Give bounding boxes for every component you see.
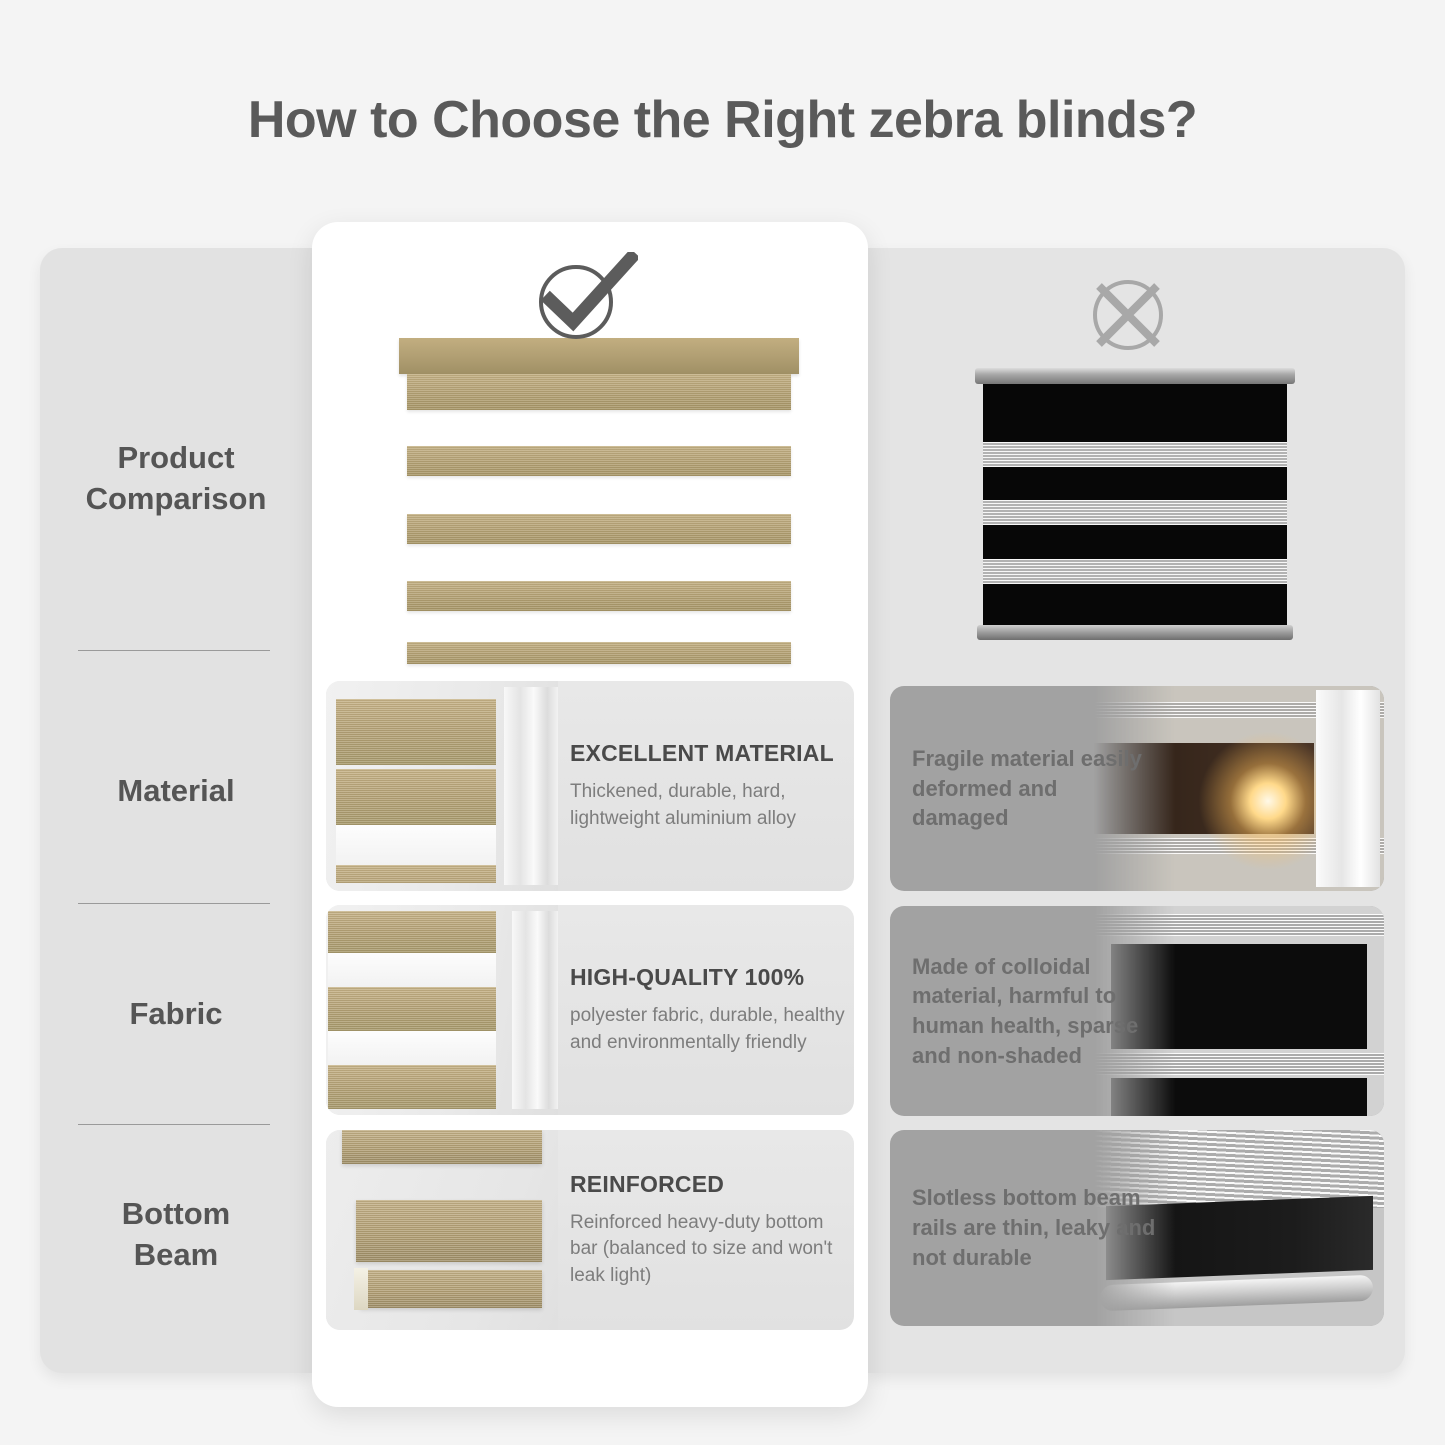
row-label-line1: Product	[117, 440, 234, 475]
hero-sheer-band	[983, 559, 1287, 584]
hero-slat	[407, 514, 791, 544]
bad-feature-body: Made of colloidal material, harmful to h…	[912, 906, 1160, 1116]
row-divider-3	[78, 1124, 270, 1125]
row-label-material: Material	[40, 770, 312, 811]
row-label-bottom-beam: Bottom Beam	[40, 1193, 312, 1275]
good-feature-body: Reinforced heavy-duty bottom bar (balanc…	[570, 1210, 854, 1289]
bad-feature-card-fabric: Made of colloidal material, harmful to h…	[890, 906, 1384, 1116]
good-feature-title: HIGH-QUALITY 100%	[570, 964, 854, 991]
good-feature-title: EXCELLENT MATERIAL	[570, 740, 854, 767]
bad-feature-card-bottom-beam: Slotless bottom beam rails are thin, lea…	[890, 1130, 1384, 1326]
row-label-line1: Bottom	[122, 1196, 230, 1231]
bad-feature-body: Slotless bottom beam rails are thin, lea…	[912, 1130, 1160, 1326]
hero-headrail	[975, 368, 1295, 384]
good-feature-body: polyester fabric, durable, healthy and e…	[570, 1003, 854, 1055]
bad-feature-card-material: Fragile material easily deformed and dam…	[890, 686, 1384, 891]
page-title: How to Choose the Right zebra blinds?	[0, 90, 1445, 150]
good-feature-image-bottom-beam	[326, 1130, 558, 1330]
good-hero-blind-image	[399, 338, 799, 668]
good-feature-card-bottom-beam: REINFORCED Reinforced heavy-duty bottom …	[326, 1130, 854, 1330]
hero-slat	[407, 374, 791, 410]
row-label-line2: Comparison	[86, 481, 267, 516]
good-feature-image-material	[326, 681, 558, 891]
hero-bottom-bar	[407, 642, 791, 664]
hero-sheer-band	[983, 500, 1287, 525]
row-label-product-comparison: Product Comparison	[40, 437, 312, 519]
hero-slat	[407, 581, 791, 611]
row-divider-2	[78, 903, 270, 904]
cross-circle-icon	[1085, 272, 1171, 358]
good-feature-card-material: EXCELLENT MATERIAL Thickened, durable, h…	[326, 681, 854, 891]
hero-bottom-bar	[977, 625, 1293, 640]
row-divider-1	[78, 650, 270, 651]
check-circle-icon	[528, 252, 638, 344]
hero-fabric	[983, 384, 1287, 625]
good-feature-card-fabric: HIGH-QUALITY 100% polyester fabric, dura…	[326, 905, 854, 1115]
good-feature-body: Thickened, durable, hard, lightweight al…	[570, 779, 854, 831]
good-feature-image-fabric	[326, 905, 558, 1115]
hero-sheer-band	[983, 442, 1287, 467]
row-label-line2: Beam	[134, 1237, 218, 1272]
bad-hero-blind-image	[975, 368, 1295, 640]
bad-feature-body: Fragile material easily deformed and dam…	[912, 686, 1160, 891]
row-label-fabric: Fabric	[40, 993, 312, 1034]
hero-slat	[407, 446, 791, 476]
good-feature-title: REINFORCED	[570, 1171, 854, 1198]
